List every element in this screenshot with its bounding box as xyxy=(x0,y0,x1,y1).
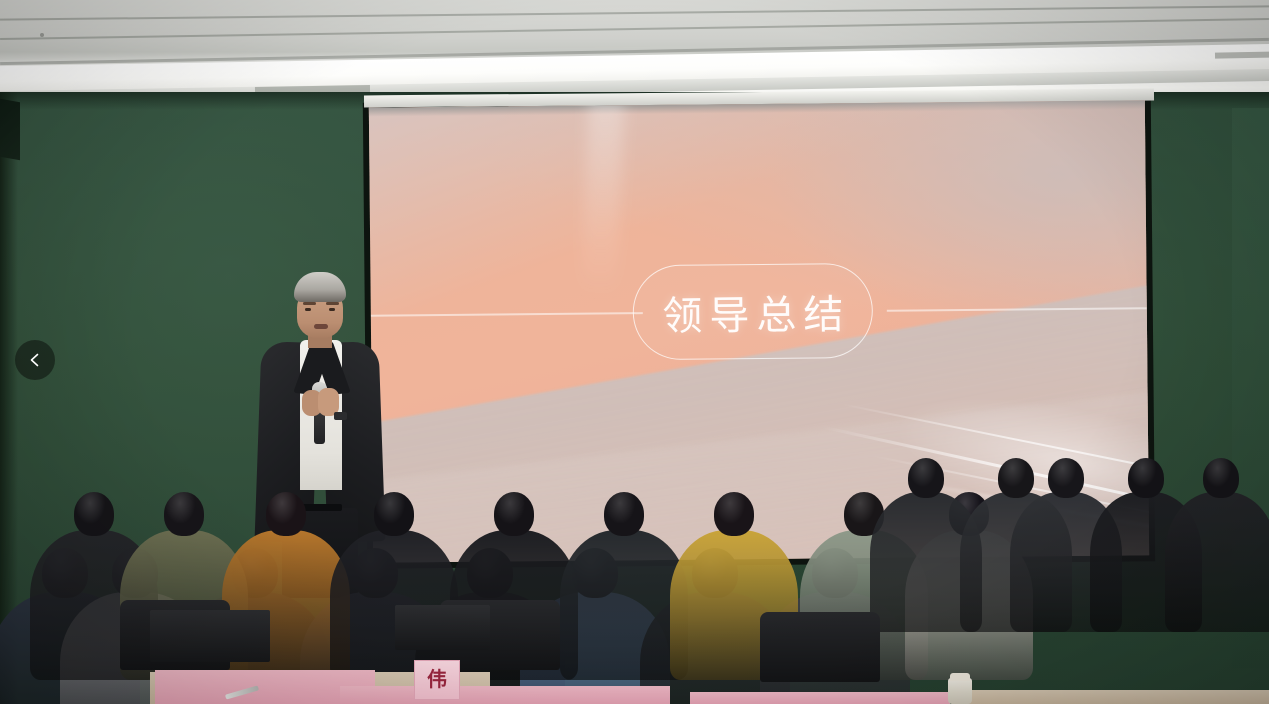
audience-member-head xyxy=(1128,458,1164,498)
audience-member-head xyxy=(1203,458,1239,498)
audience-member-head xyxy=(164,492,204,536)
screenshot-root: 领导总结 伟 xyxy=(0,0,1269,704)
audience-member-head xyxy=(998,458,1034,498)
audience-member-head xyxy=(494,492,534,536)
chair-back xyxy=(760,612,880,682)
audience-member-head xyxy=(74,492,114,536)
presenter-wristwatch xyxy=(334,412,347,420)
name-placard-text: 伟 xyxy=(427,670,447,690)
audience-member-head xyxy=(374,492,414,536)
presenter-mouth xyxy=(314,324,328,329)
presenter-eye xyxy=(305,308,311,311)
chevron-left-icon xyxy=(27,352,43,368)
laptop xyxy=(395,605,490,650)
audience-member xyxy=(960,458,1072,638)
audience-member-torso xyxy=(560,530,688,680)
slide-title-text: 领导总结 xyxy=(655,282,851,342)
presenter-eyebrow xyxy=(326,302,339,305)
presenter-eyebrow xyxy=(303,302,316,305)
water-bottle xyxy=(948,678,972,704)
laptop xyxy=(150,610,270,662)
wall-mounted-unit xyxy=(0,98,20,161)
water-bottle-cap xyxy=(950,673,970,681)
slide-title-pill: 领导总结 xyxy=(632,263,873,360)
audience-member xyxy=(1165,458,1269,638)
ceiling-seam xyxy=(0,5,1269,20)
audience-member-head xyxy=(714,492,754,536)
audience-member-torso xyxy=(1165,492,1269,632)
desk-tablecloth xyxy=(690,692,950,704)
desk-tablecloth xyxy=(340,686,670,704)
audience-member xyxy=(330,492,458,686)
ceiling-seam xyxy=(0,18,1269,40)
audience-member-head xyxy=(604,492,644,536)
previous-image-button[interactable] xyxy=(15,340,55,380)
presenter-eye xyxy=(329,308,335,311)
presenter-hair xyxy=(294,272,346,302)
audience-member-head xyxy=(908,458,944,498)
name-placard: 伟 xyxy=(414,660,460,700)
front-desk xyxy=(960,690,1269,704)
ceiling-vent xyxy=(1215,51,1269,58)
audience-member-torso xyxy=(960,492,1072,632)
audience-member-head xyxy=(266,492,306,536)
ceiling-fixture-dot xyxy=(40,33,44,37)
audience-member xyxy=(560,492,688,686)
